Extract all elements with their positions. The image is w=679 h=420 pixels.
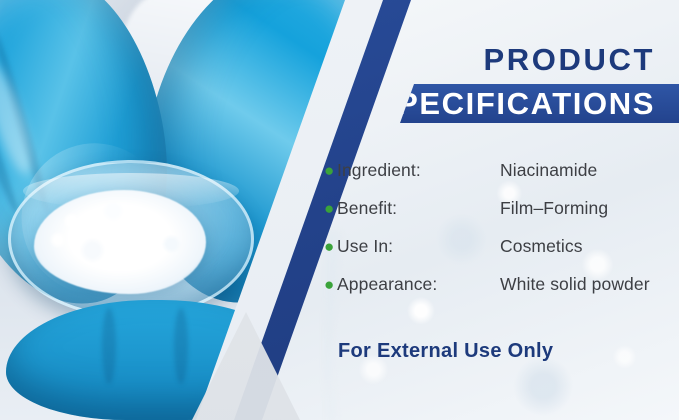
spec-label: Ingredient: xyxy=(337,160,500,181)
specifications-banner: SPECIFICATIONS xyxy=(400,84,679,123)
spec-label: Appearance: xyxy=(337,274,500,295)
spec-label: Benefit: xyxy=(337,198,500,219)
list-item: ● Use In: Cosmetics xyxy=(324,236,679,274)
product-specification-card: PRODUCT SPECIFICATIONS ● Ingredient: Nia… xyxy=(0,0,679,420)
page-title-specifications: SPECIFICATIONS xyxy=(375,88,679,119)
bullet-icon: ● xyxy=(324,200,337,217)
external-use-notice: For External Use Only xyxy=(338,340,553,363)
list-item: ● Appearance: White solid powder xyxy=(324,274,679,312)
bullet-icon: ● xyxy=(324,276,337,293)
spec-panel: PRODUCT SPECIFICATIONS ● Ingredient: Nia… xyxy=(0,0,679,420)
bullet-icon: ● xyxy=(324,162,337,179)
spec-value: Cosmetics xyxy=(500,236,583,257)
spec-value: Niacinamide xyxy=(500,160,597,181)
list-item: ● Benefit: Film–Forming xyxy=(324,198,679,236)
list-item: ● Ingredient: Niacinamide xyxy=(324,160,679,198)
spec-value: Film–Forming xyxy=(500,198,608,219)
page-title-product: PRODUCT xyxy=(484,44,655,75)
spec-value: White solid powder xyxy=(500,274,650,295)
spec-label: Use In: xyxy=(337,236,500,257)
specification-list: ● Ingredient: Niacinamide ● Benefit: Fil… xyxy=(324,160,679,312)
bullet-icon: ● xyxy=(324,238,337,255)
